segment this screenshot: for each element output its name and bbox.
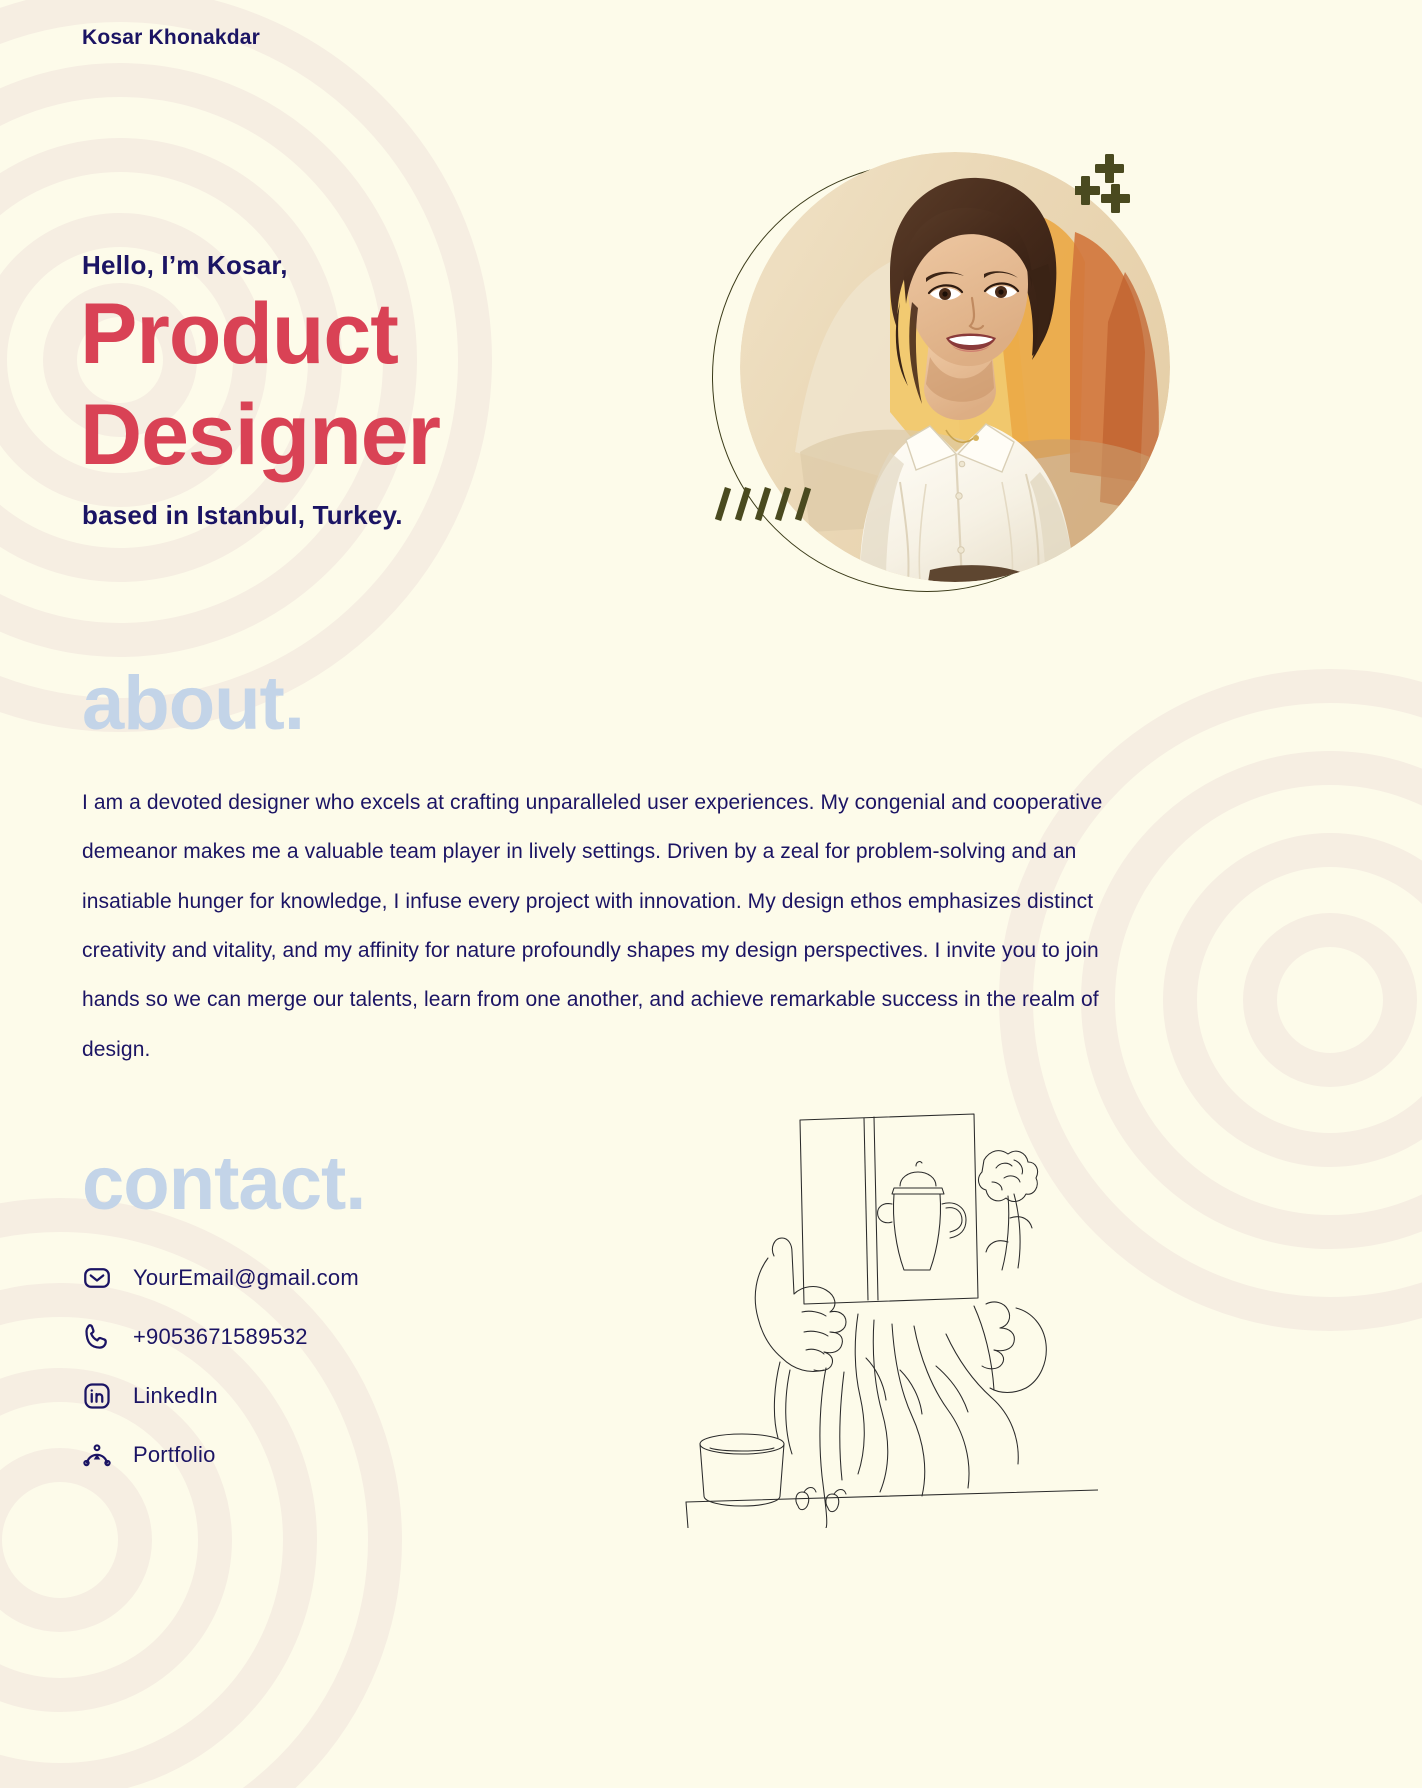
- hero-location: based in Istanbul, Turkey.: [82, 500, 403, 531]
- portfolio-page: Kosar Khonakdar Hello, I’m Kosar, Produc…: [0, 0, 1422, 1788]
- site-owner-name: Kosar Khonakdar: [82, 26, 260, 50]
- portrait-block: [700, 150, 1180, 610]
- hero-title-line-2: Designer: [80, 385, 440, 486]
- contact-item-phone[interactable]: +9053671589532: [82, 1307, 359, 1366]
- reading-person-line-illustration: [678, 1108, 1098, 1528]
- plus-marks-decoration: [1075, 150, 1165, 230]
- linkedin-icon: [82, 1381, 112, 1411]
- contact-label-linkedin: LinkedIn: [133, 1383, 218, 1409]
- contact-list: YourEmail@gmail.com +9053671589532 L: [82, 1248, 359, 1484]
- contact-label-portfolio: Portfolio: [133, 1442, 216, 1468]
- portfolio-icon: [82, 1440, 112, 1470]
- hero-greeting: Hello, I’m Kosar,: [82, 250, 288, 281]
- slash-marks-decoration: [712, 478, 822, 528]
- contact-item-linkedin[interactable]: LinkedIn: [82, 1366, 359, 1425]
- section-heading-about: about.: [82, 660, 304, 747]
- contact-label-email: YourEmail@gmail.com: [133, 1265, 359, 1291]
- page-title: Product Designer: [80, 284, 440, 487]
- contact-item-email[interactable]: YourEmail@gmail.com: [82, 1248, 359, 1307]
- about-paragraph: I am a devoted designer who excels at cr…: [82, 778, 1114, 1074]
- section-heading-contact: contact.: [82, 1140, 365, 1227]
- email-icon: [82, 1263, 112, 1293]
- hero-title-line-1: Product: [80, 284, 440, 385]
- contact-item-portfolio[interactable]: Portfolio: [82, 1425, 359, 1484]
- contact-label-phone: +9053671589532: [133, 1324, 308, 1350]
- phone-icon: [82, 1322, 112, 1352]
